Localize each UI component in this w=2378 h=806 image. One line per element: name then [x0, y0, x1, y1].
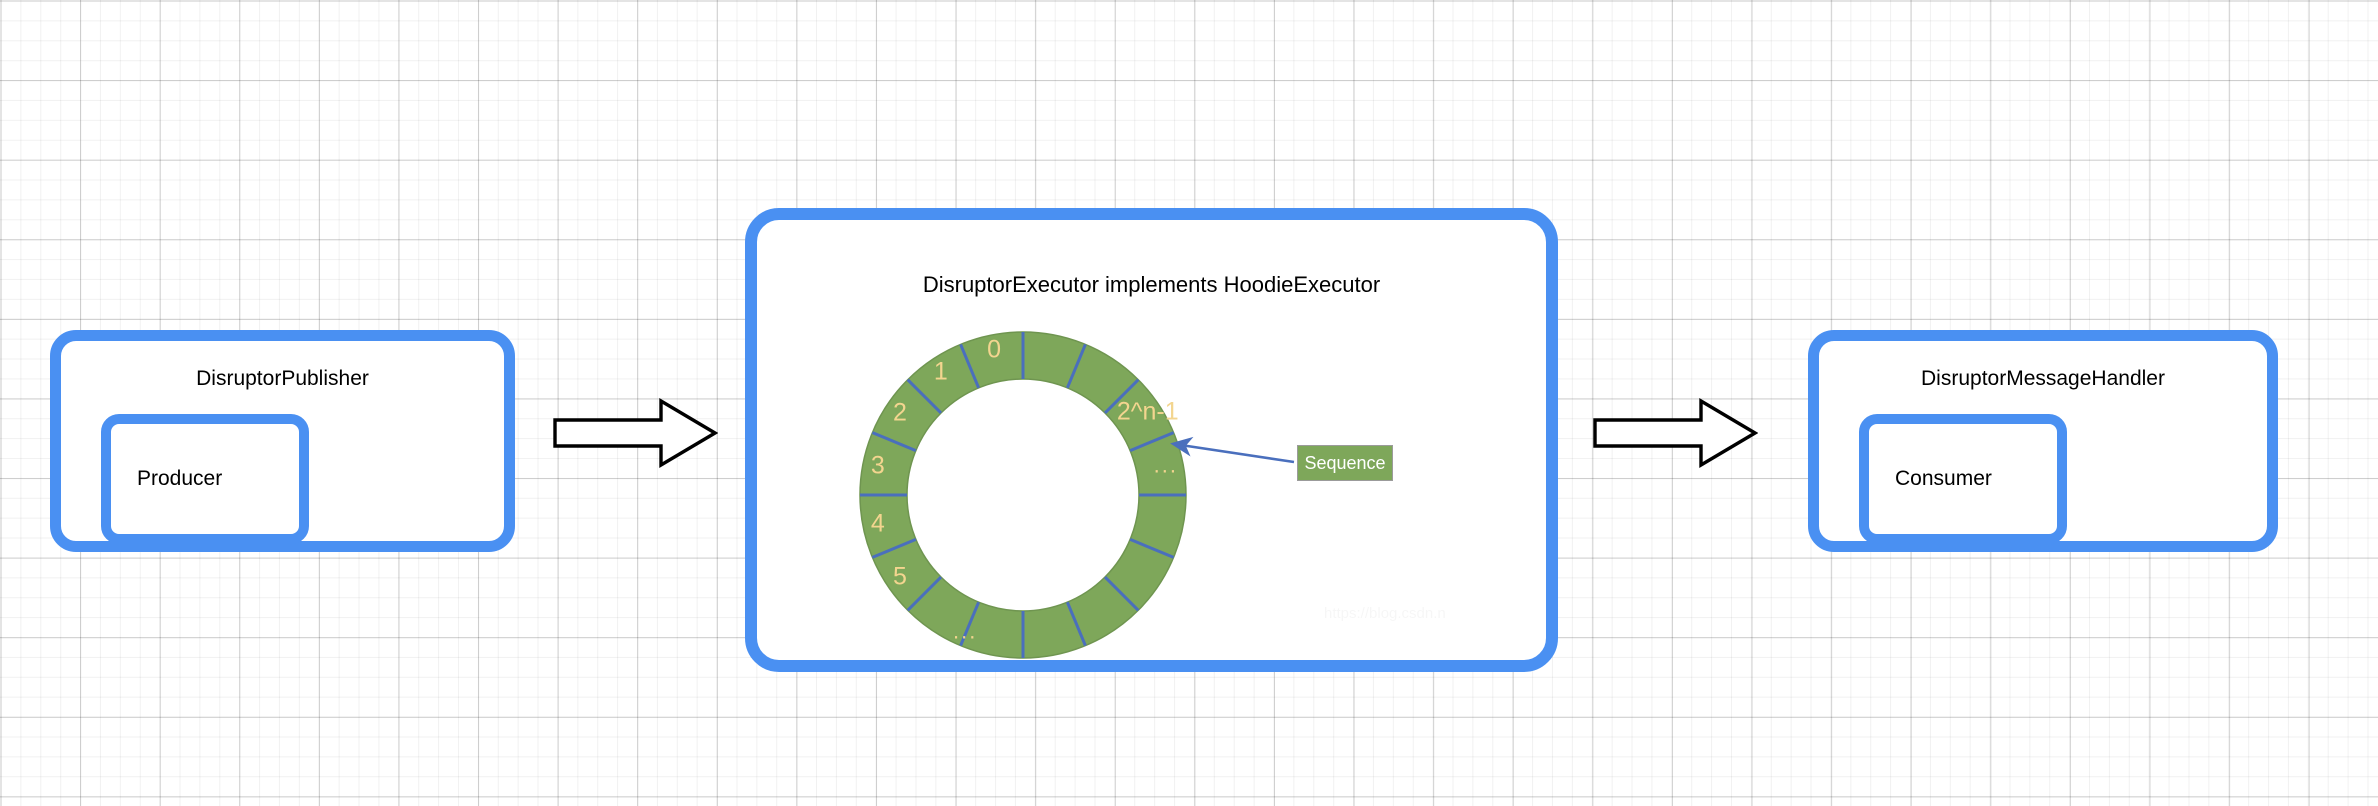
publisher-to-executor-arrow: [553, 398, 718, 468]
producer-box[interactable]: Producer: [101, 414, 309, 544]
producer-label: Producer: [137, 467, 222, 491]
disruptor-executor-box[interactable]: DisruptorExecutor implements HoodieExecu…: [745, 208, 1558, 672]
sequence-callout-box[interactable]: Sequence: [1297, 445, 1393, 481]
disruptor-message-handler-title: DisruptorMessageHandler: [1819, 367, 2267, 391]
executor-to-handler-arrow: [1593, 398, 1758, 468]
ring-buffer: 012345...2^n-1...: [858, 330, 1188, 660]
disruptor-message-handler-box[interactable]: DisruptorMessageHandler Consumer: [1808, 330, 2278, 552]
diagram-canvas: DisruptorPublisher Producer DisruptorExe…: [0, 0, 2378, 806]
consumer-label: Consumer: [1895, 467, 1992, 491]
disruptor-publisher-box[interactable]: DisruptorPublisher Producer: [50, 330, 515, 552]
consumer-box[interactable]: Consumer: [1859, 414, 2067, 544]
watermark-text: https://blog.csdn.n: [1324, 605, 1446, 622]
disruptor-executor-title: DisruptorExecutor implements HoodieExecu…: [757, 272, 1546, 298]
disruptor-publisher-title: DisruptorPublisher: [61, 367, 504, 391]
sequence-callout-label: Sequence: [1304, 453, 1385, 474]
sequence-pointer-arrow: [1162, 428, 1297, 468]
